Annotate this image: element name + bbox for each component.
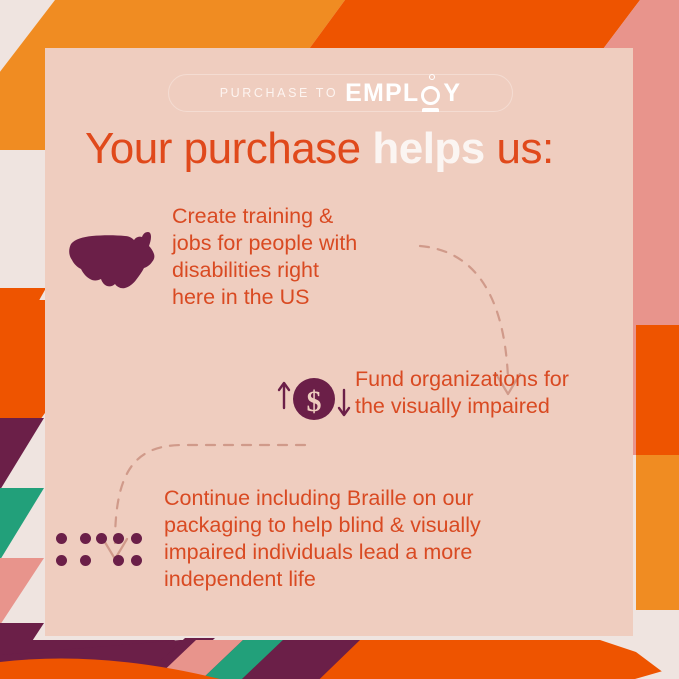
person-in-o-icon — [419, 81, 443, 106]
badge-employ-suffix: Y — [443, 79, 461, 108]
braille-dot — [80, 555, 91, 566]
badge-text-row: PURCHASE TO EMPL Y — [169, 75, 512, 111]
benefit-line: the visually impaired — [355, 393, 635, 420]
letter-o-ring-shape — [421, 86, 440, 105]
poster-canvas: PURCHASE TO EMPL Y Your purchase helps u… — [0, 0, 679, 679]
badge-employ-prefix: EMPL — [345, 79, 419, 108]
braille-dots-icon — [56, 533, 168, 577]
benefit-text-braille-packaging: Continue including Braille on our packag… — [164, 485, 549, 593]
braille-dot — [113, 555, 124, 566]
braille-dot — [56, 555, 67, 566]
braille-dot — [113, 533, 124, 544]
benefit-line: independent life — [164, 566, 549, 593]
benefit-line: Continue including Braille on our — [164, 485, 549, 512]
braille-dot — [131, 533, 142, 544]
benefit-line: jobs for people with — [172, 230, 422, 257]
braille-dot — [56, 533, 67, 544]
badge-small-text: PURCHASE TO — [220, 86, 338, 100]
person-base-shape — [422, 108, 439, 112]
benefit-line: packaging to help blind & visually — [164, 512, 549, 539]
headline-part-1: Your purchase — [85, 124, 372, 173]
benefit-line: Fund organizations for — [355, 366, 635, 393]
headline-highlight: helps — [372, 124, 484, 173]
benefit-text-fund-organizations: Fund organizations for the visually impa… — [355, 366, 635, 420]
benefit-line: Create training & — [172, 203, 422, 230]
benefit-line: impaired individuals lead a more — [164, 539, 549, 566]
us-map-icon — [63, 224, 167, 296]
braille-dot — [80, 533, 91, 544]
braille-dot — [96, 533, 107, 544]
benefit-line: disabilities right — [172, 257, 422, 284]
content-card: PURCHASE TO EMPL Y Your purchase helps u… — [45, 48, 633, 636]
braille-dot — [131, 555, 142, 566]
badge-employ-wordmark: EMPL Y — [345, 79, 461, 108]
purchase-to-employ-badge: PURCHASE TO EMPL Y — [168, 74, 513, 112]
benefit-line: here in the US — [172, 284, 422, 311]
headline-part-2: us: — [485, 124, 554, 173]
benefit-text-create-training: Create training & jobs for people with d… — [172, 203, 422, 311]
page-title: Your purchase helps us: — [85, 124, 605, 174]
person-head-shape — [429, 74, 435, 80]
